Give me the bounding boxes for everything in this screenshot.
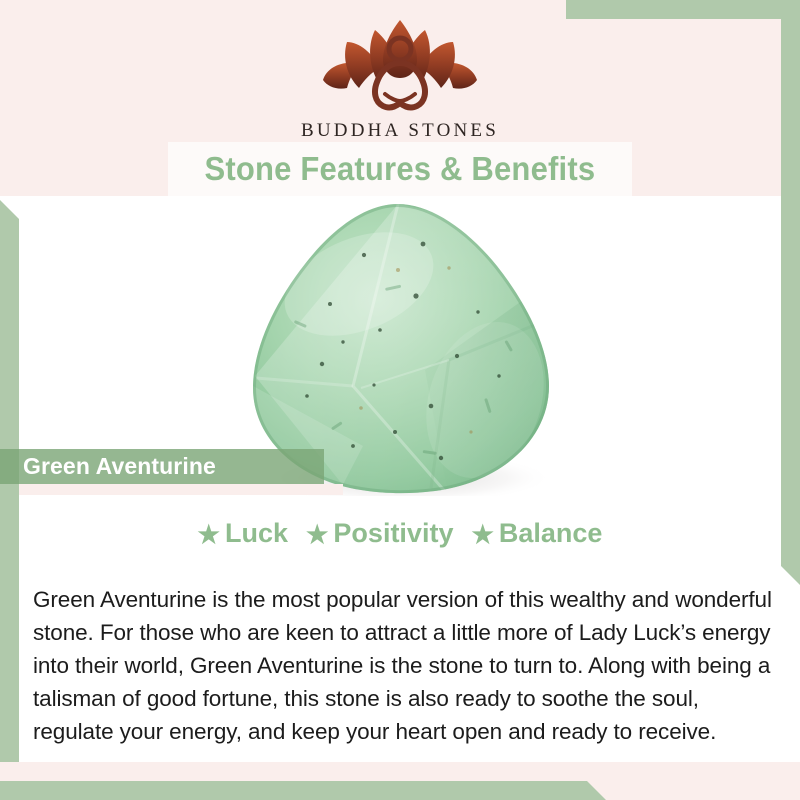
frame-green-left-bar xyxy=(0,200,19,780)
benefits-row: ★Luck★Positivity★Balance xyxy=(0,518,800,550)
benefit-item: ★Balance xyxy=(471,518,602,550)
brand-logo: BUDDHA STONES xyxy=(0,18,800,142)
benefit-item: ★Luck xyxy=(198,518,288,550)
stone-name-band: Green Aventurine xyxy=(0,449,324,484)
benefit-item: ★Positivity xyxy=(306,518,453,550)
star-icon: ★ xyxy=(471,521,493,549)
benefit-label: Balance xyxy=(499,518,603,548)
page-title: Stone Features & Benefits xyxy=(205,150,596,188)
caption-underline-strip xyxy=(19,484,343,495)
brand-name: BUDDHA STONES xyxy=(0,120,800,142)
star-icon: ★ xyxy=(198,521,220,549)
frame-green-top-bar xyxy=(566,0,800,19)
infographic-page: BUDDHA STONES Stone Features & Benefits xyxy=(0,0,800,800)
star-icon: ★ xyxy=(306,521,328,549)
benefit-label: Positivity xyxy=(333,518,453,548)
description-text: Green Aventurine is the most popular ver… xyxy=(33,583,777,748)
lotus-meditation-figure-icon xyxy=(313,18,487,114)
title-card: Stone Features & Benefits xyxy=(168,142,632,196)
frame-green-bottom-bar xyxy=(0,781,606,800)
stone-name: Green Aventurine xyxy=(23,453,216,480)
benefit-label: Luck xyxy=(225,518,288,548)
